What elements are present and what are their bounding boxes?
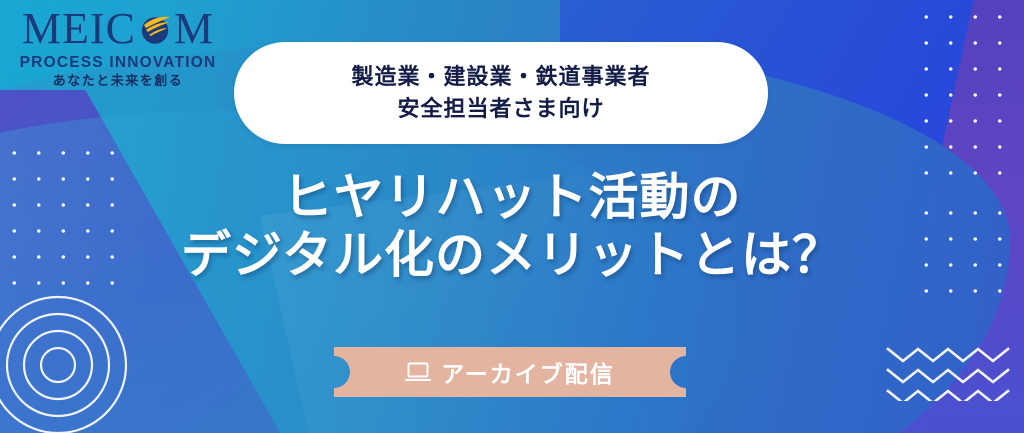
headline-line-1: ヒヤリハット活動の [0, 168, 1024, 226]
page-title: ヒヤリハット活動の デジタル化のメリットとは？ [0, 168, 1024, 284]
logo-tagline: あなたと未来を創る [18, 74, 218, 88]
laptop-icon [405, 361, 431, 383]
meicom-logo: MEIC M PROCESS INNOVATION あなたと未来を創る [18, 6, 218, 88]
logo-wordmark: MEIC M [18, 6, 218, 52]
logo-subtitle: PROCESS INNOVATION [18, 54, 218, 71]
audience-line-1: 製造業・建設業・鉄道事業者 [351, 61, 650, 93]
webinar-banner: MEIC M PROCESS INNOVATION あなたと未来を創る 製造業・… [0, 0, 1024, 433]
headline-line-2: デジタル化のメリットとは？ [0, 226, 1024, 284]
archive-badge-label: アーカイブ配信 [441, 355, 615, 389]
dot-grid-top-right-icon [914, 4, 1022, 184]
audience-pill: 製造業・建設業・鉄道事業者 安全担当者さま向け [234, 42, 768, 144]
logo-wordmark-right: M [174, 7, 214, 51]
audience-line-2: 安全担当者さま向け [397, 93, 604, 125]
globe-swoosh-icon [137, 11, 173, 47]
archive-delivery-badge: アーカイブ配信 [334, 347, 686, 397]
wave-lines-icon [886, 339, 1010, 401]
concentric-circles-icon [0, 292, 136, 433]
logo-wordmark-left: MEIC [22, 7, 136, 51]
